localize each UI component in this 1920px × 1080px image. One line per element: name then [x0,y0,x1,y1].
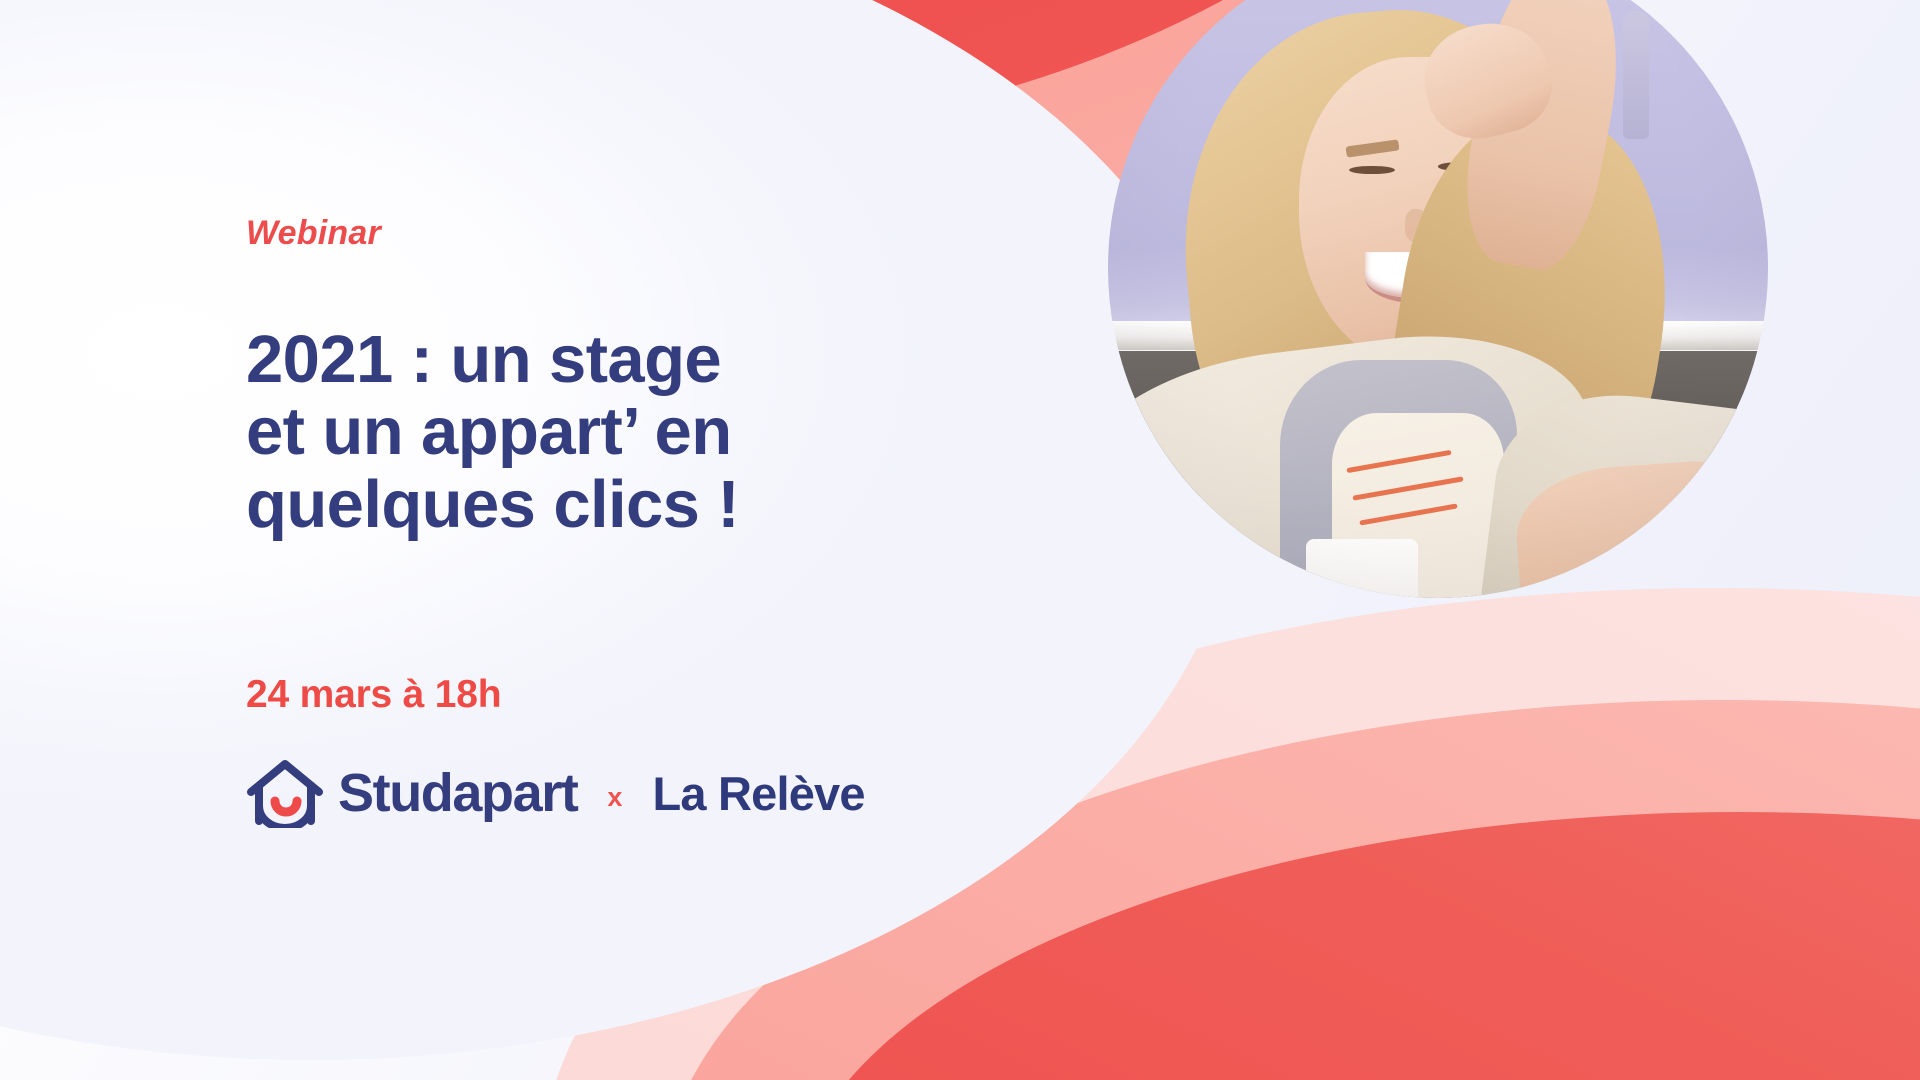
studapart-logo[interactable]: Studapart [246,758,577,828]
wave-band-bottom-red [790,812,1920,1080]
house-smile-icon [246,758,324,828]
banner-headline: 2021 : un stage et un appart’ en quelque… [246,324,1006,541]
event-type-label: Webinar [246,216,1006,250]
partner-wordmark[interactable]: La Relève [652,770,864,817]
logo-lockup: Studapart x La Relève [246,758,1006,828]
event-date: 24 mars à 18h [246,675,1006,714]
speaker-photo [1108,0,1768,598]
webinar-promo-banner: Webinar 2021 : un stage et un appart’ en… [0,0,1920,1080]
banner-content: Webinar 2021 : un stage et un appart’ en… [246,216,1006,828]
studapart-wordmark: Studapart [338,766,577,820]
partnership-separator: x [607,784,622,811]
photo-vignette [1108,0,1768,598]
